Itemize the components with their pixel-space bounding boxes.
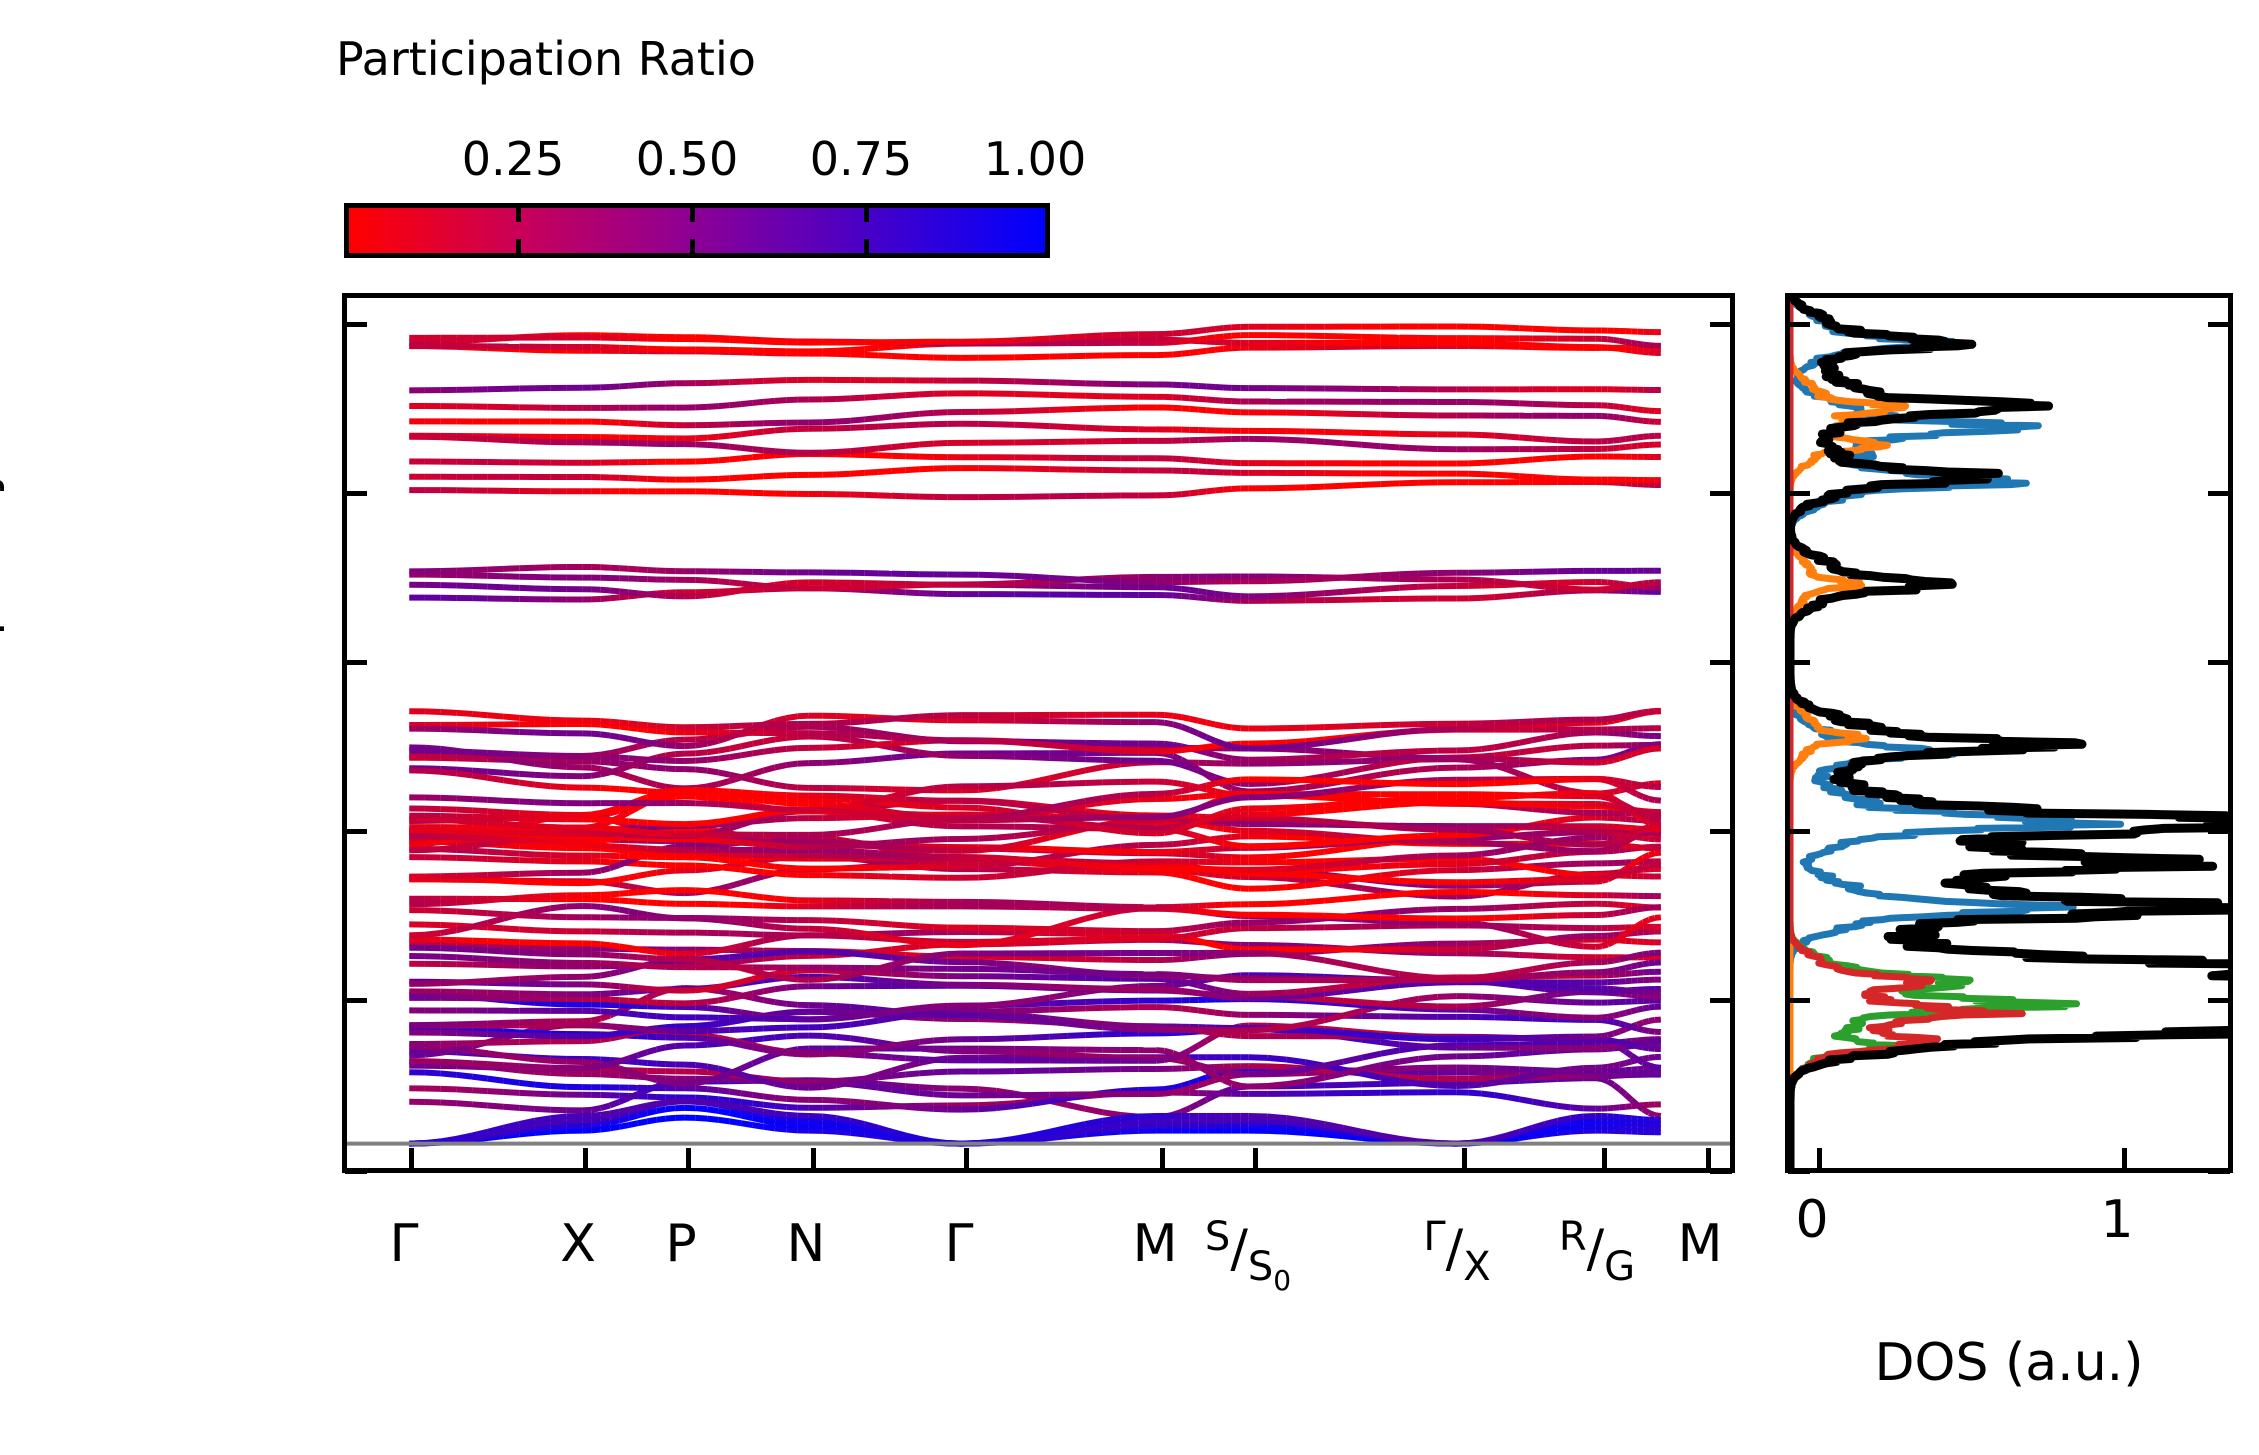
x-tick <box>2122 1148 2127 1170</box>
y-tick <box>345 829 367 834</box>
dos-plot <box>1790 298 2228 1168</box>
y-tick <box>1710 829 1732 834</box>
y-tick <box>2208 491 2230 496</box>
x-tick-label-x: X <box>560 1214 596 1274</box>
colorbar-tick-label: 1.00 <box>984 132 1086 186</box>
x-tick-label-m1: M <box>1133 1214 1178 1274</box>
x-tick <box>964 1148 969 1170</box>
x-tick-label-m2: M <box>1678 1214 1723 1274</box>
colorbar-tick <box>864 239 869 253</box>
colorbar-gradient <box>349 208 1045 253</box>
y-tick <box>345 491 367 496</box>
y-tick <box>345 998 367 1003</box>
x-tick <box>1462 1148 1467 1170</box>
y-tick <box>1788 491 1810 496</box>
x-tick-label-p: P <box>665 1214 696 1274</box>
y-tick <box>1710 660 1732 665</box>
y-tick <box>345 660 367 665</box>
y-tick <box>1710 322 1732 327</box>
participation-ratio-colorbar <box>344 203 1050 258</box>
dos-axes: Total O Si Se Pr <box>1785 293 2233 1173</box>
y-tick <box>1710 1169 1732 1174</box>
x-tick <box>811 1148 816 1170</box>
x-tick <box>1160 1148 1165 1170</box>
x-tick <box>409 1148 414 1170</box>
x-tick <box>1706 1148 1711 1170</box>
y-tick <box>1710 491 1732 496</box>
colorbar-title: Participation Ratio <box>336 32 756 86</box>
band-structure-axes <box>342 293 1735 1173</box>
y-tick <box>1710 998 1732 1003</box>
dos-x-tick-label: 0 <box>1795 1190 1828 1250</box>
x-tick-label-gamma2: Γ <box>945 1214 974 1274</box>
x-tick-label-r-g: R/G <box>1559 1214 1635 1290</box>
y-tick <box>1788 829 1810 834</box>
colorbar-tick <box>690 239 695 253</box>
colorbar-tick-label: 0.25 <box>462 132 564 186</box>
x-tick-label-gamma1: Γ <box>390 1214 419 1274</box>
x-tick <box>1602 1148 1607 1170</box>
colorbar-tick <box>516 239 521 253</box>
colorbar-tick <box>864 208 869 222</box>
dos-axis-title: DOS (a.u.) <box>1875 1333 2144 1393</box>
dos-x-tick-label: 1 <box>2100 1190 2133 1250</box>
x-tick-label-gamma-x: Γ/X <box>1423 1214 1490 1290</box>
band-structure-plot <box>347 298 1730 1168</box>
x-tick-label-n: N <box>787 1214 826 1274</box>
colorbar-tick-label: 0.50 <box>636 132 738 186</box>
x-tick <box>583 1148 588 1170</box>
y-tick <box>2208 660 2230 665</box>
colorbar-tick <box>516 208 521 222</box>
y-tick <box>345 322 367 327</box>
y-tick <box>2208 1169 2230 1174</box>
x-tick <box>1253 1148 1258 1170</box>
phonon-figure: Participation Ratio 0.25 0.50 0.75 1.00 … <box>0 0 2259 1455</box>
y-tick <box>2208 998 2230 1003</box>
x-tick <box>686 1148 691 1170</box>
y-tick <box>2208 829 2230 834</box>
y-tick <box>2208 322 2230 327</box>
y-tick <box>1788 1169 1810 1174</box>
y-axis-title: Frequency (cm −1) <box>0 278 6 733</box>
x-tick-label-s-s0: S/S0 <box>1205 1214 1291 1297</box>
x-tick <box>1817 1148 1822 1170</box>
colorbar-tick-label: 0.75 <box>810 132 912 186</box>
y-tick <box>1788 660 1810 665</box>
colorbar-tick <box>690 208 695 222</box>
y-tick <box>345 1169 367 1174</box>
y-tick <box>1788 322 1810 327</box>
y-tick <box>1788 998 1810 1003</box>
